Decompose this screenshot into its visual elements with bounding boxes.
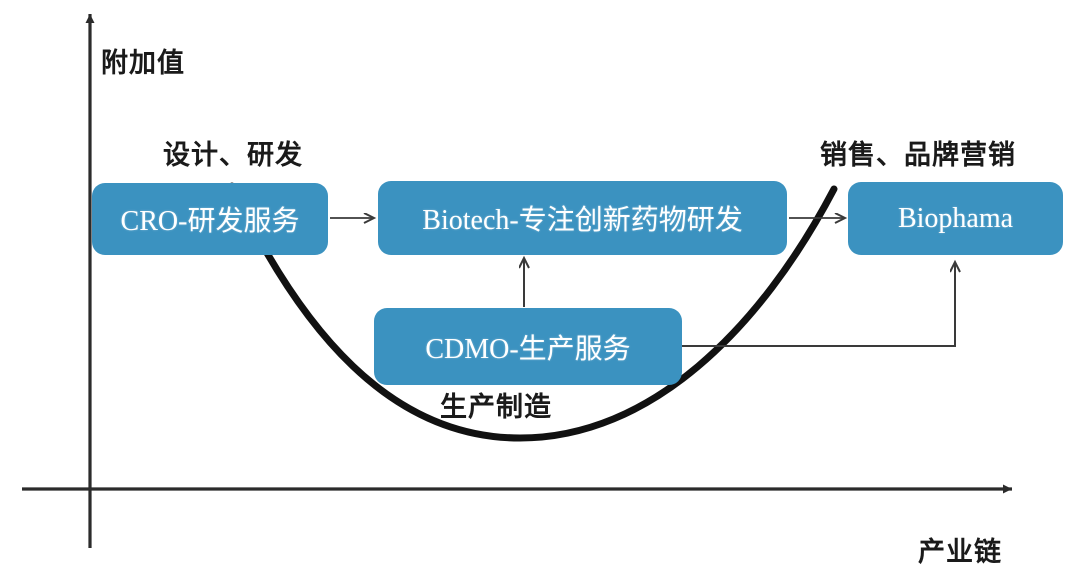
connector-cdmo-to-biophama [682, 262, 955, 346]
stage-label-manufacture: 生产制造 [440, 385, 552, 424]
diagram-canvas: 附加值 产业链 设计、研发 生产制造 销售、品牌营销 CRO-研发服务 Biot… [0, 0, 1086, 585]
node-box-biotech[interactable]: Biotech-专注创新药物研发 [378, 181, 787, 255]
stage-label-design: 设计、研发 [163, 133, 303, 172]
node-box-biophama[interactable]: Biophama [848, 182, 1063, 255]
diagram-vector-layer [0, 0, 1086, 585]
stage-label-sales: 销售、品牌营销 [820, 133, 1016, 172]
node-box-cdmo[interactable]: CDMO-生产服务 [374, 308, 682, 385]
x-axis-label: 产业链 [918, 530, 1002, 569]
node-box-cro[interactable]: CRO-研发服务 [92, 183, 328, 255]
y-axis-label: 附加值 [101, 41, 185, 80]
